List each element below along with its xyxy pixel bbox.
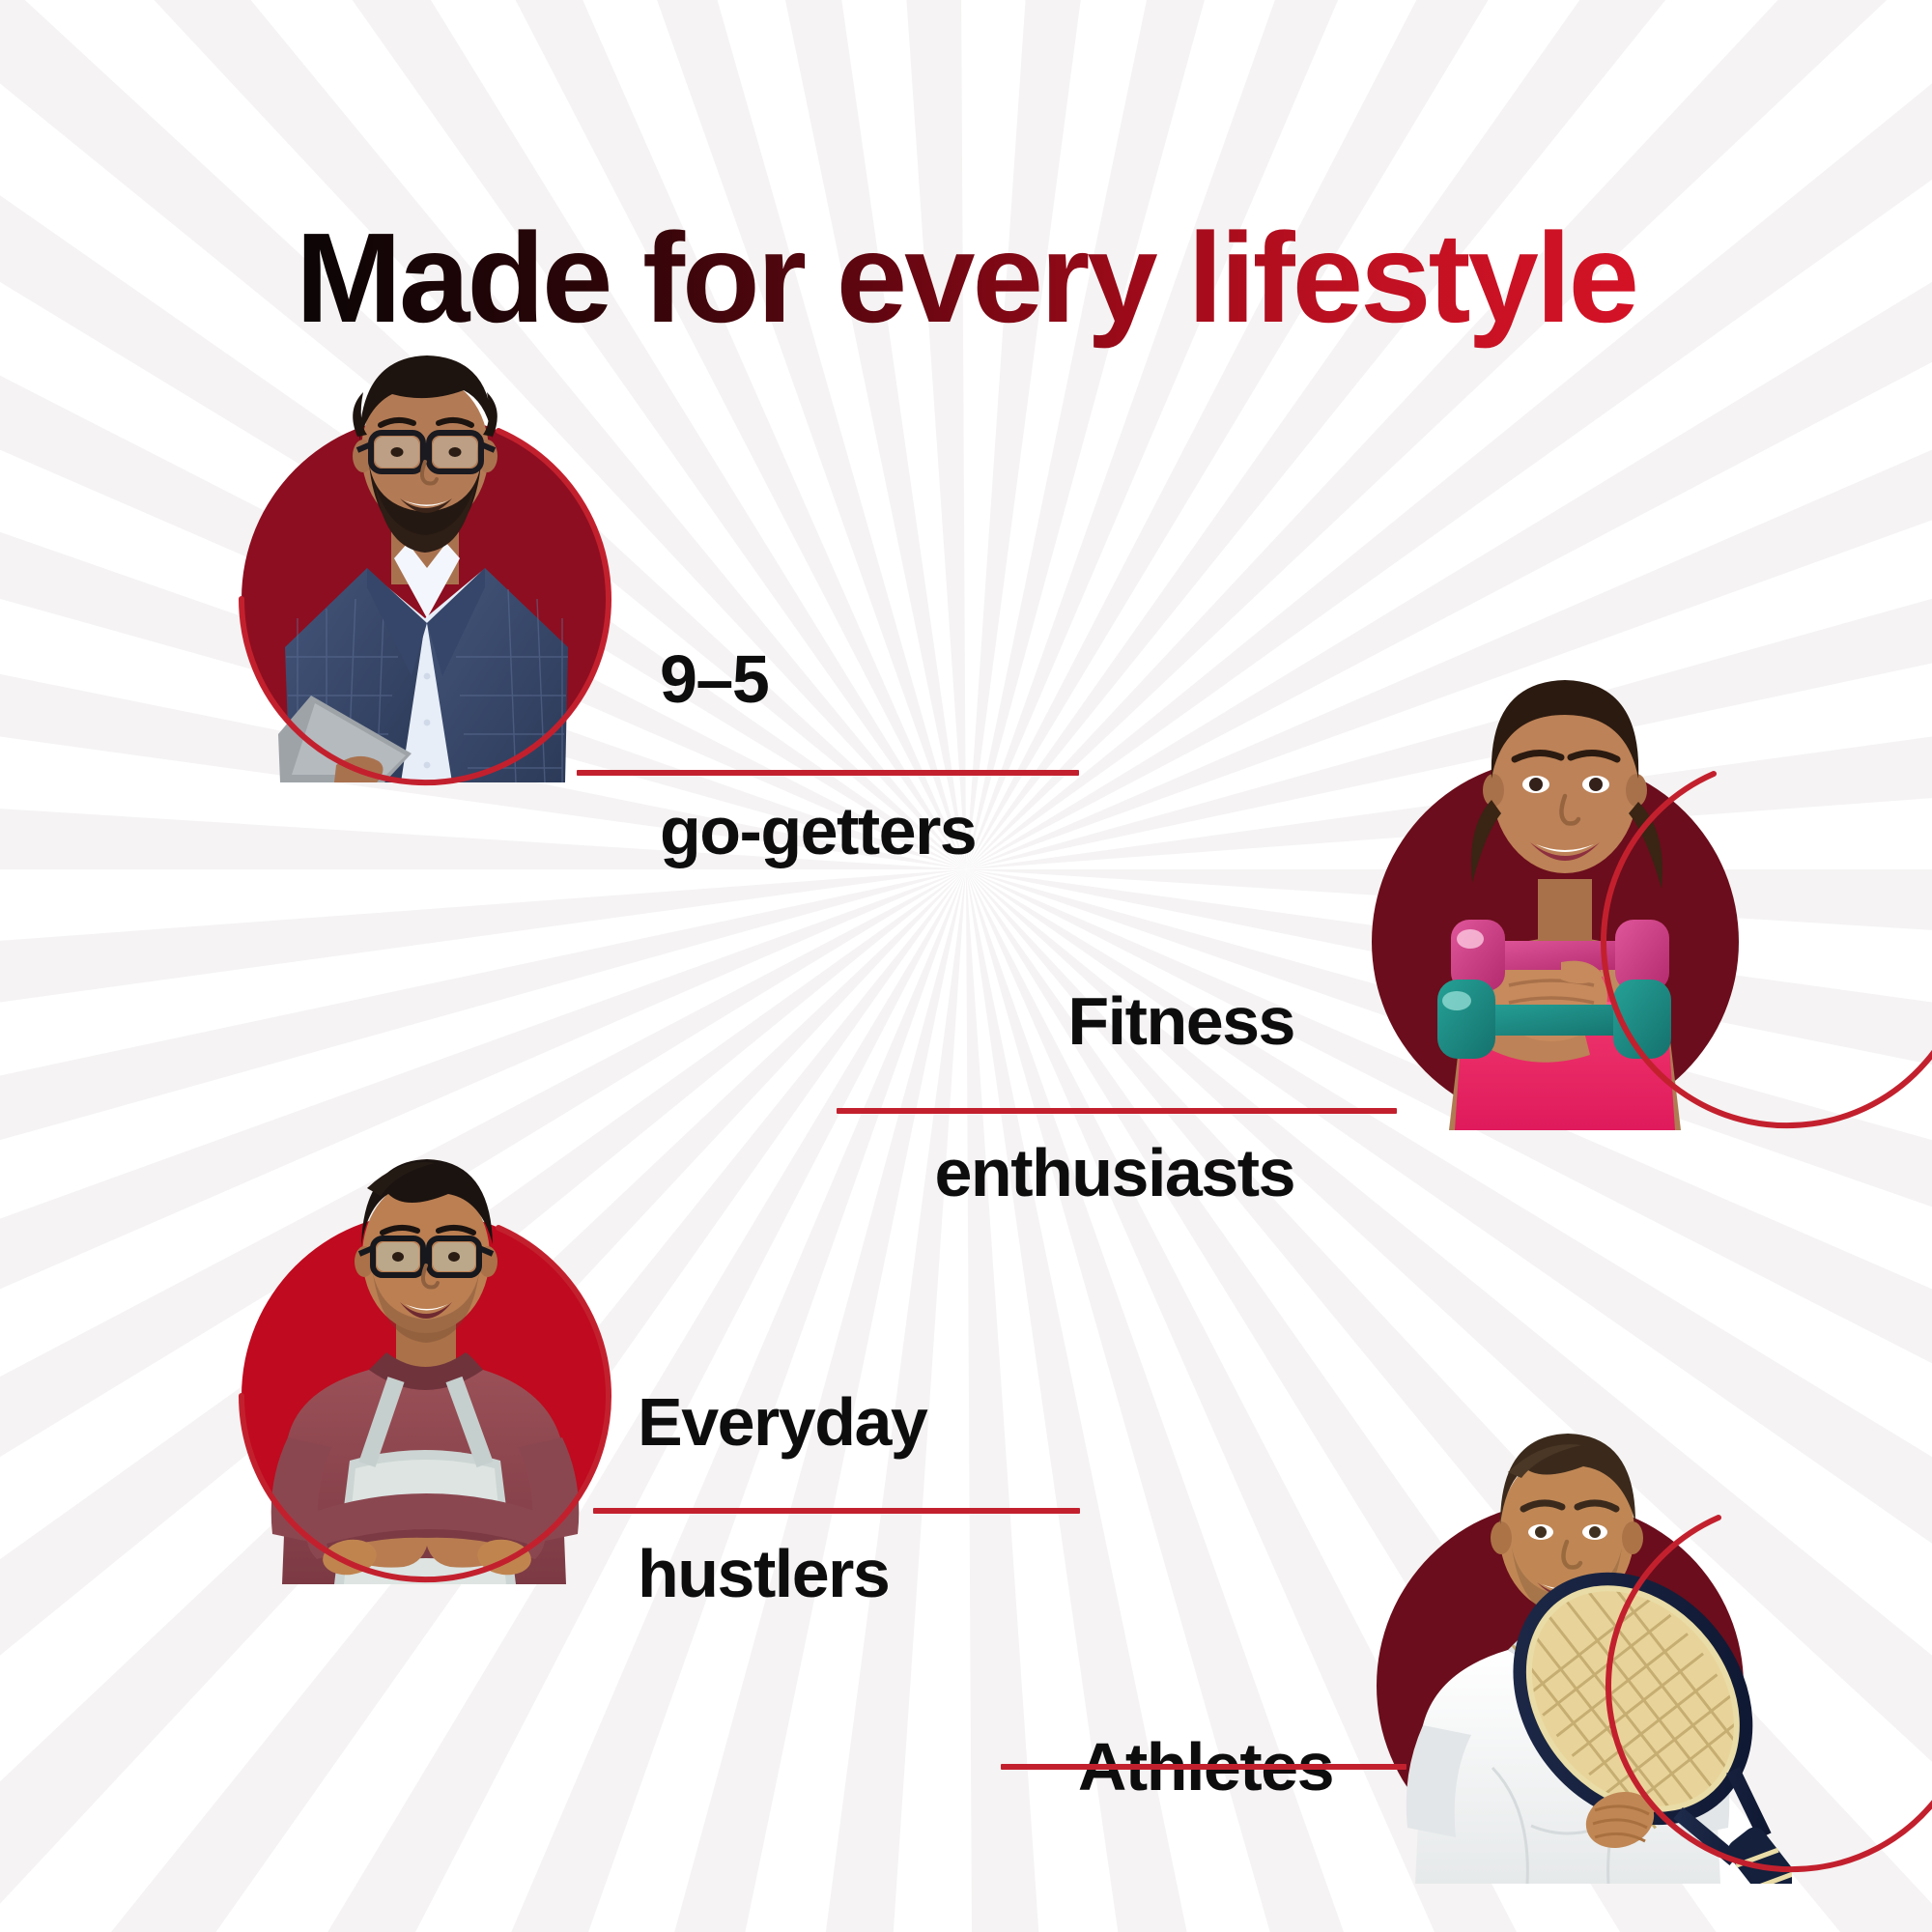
page-title-text: Made for every lifestyle: [296, 207, 1636, 349]
photo-man-in-white-shirt-holding-tennis-racket: [1348, 1343, 1792, 1884]
connector-athletes: [1001, 1764, 1406, 1770]
label-athletes: Athletes: [541, 1654, 1333, 1805]
infographic-canvas: Made for every lifestyle: [0, 0, 1932, 1932]
avatar-athletes: [1377, 1502, 1744, 1869]
page-title: Made for every lifestyle: [0, 214, 1932, 342]
